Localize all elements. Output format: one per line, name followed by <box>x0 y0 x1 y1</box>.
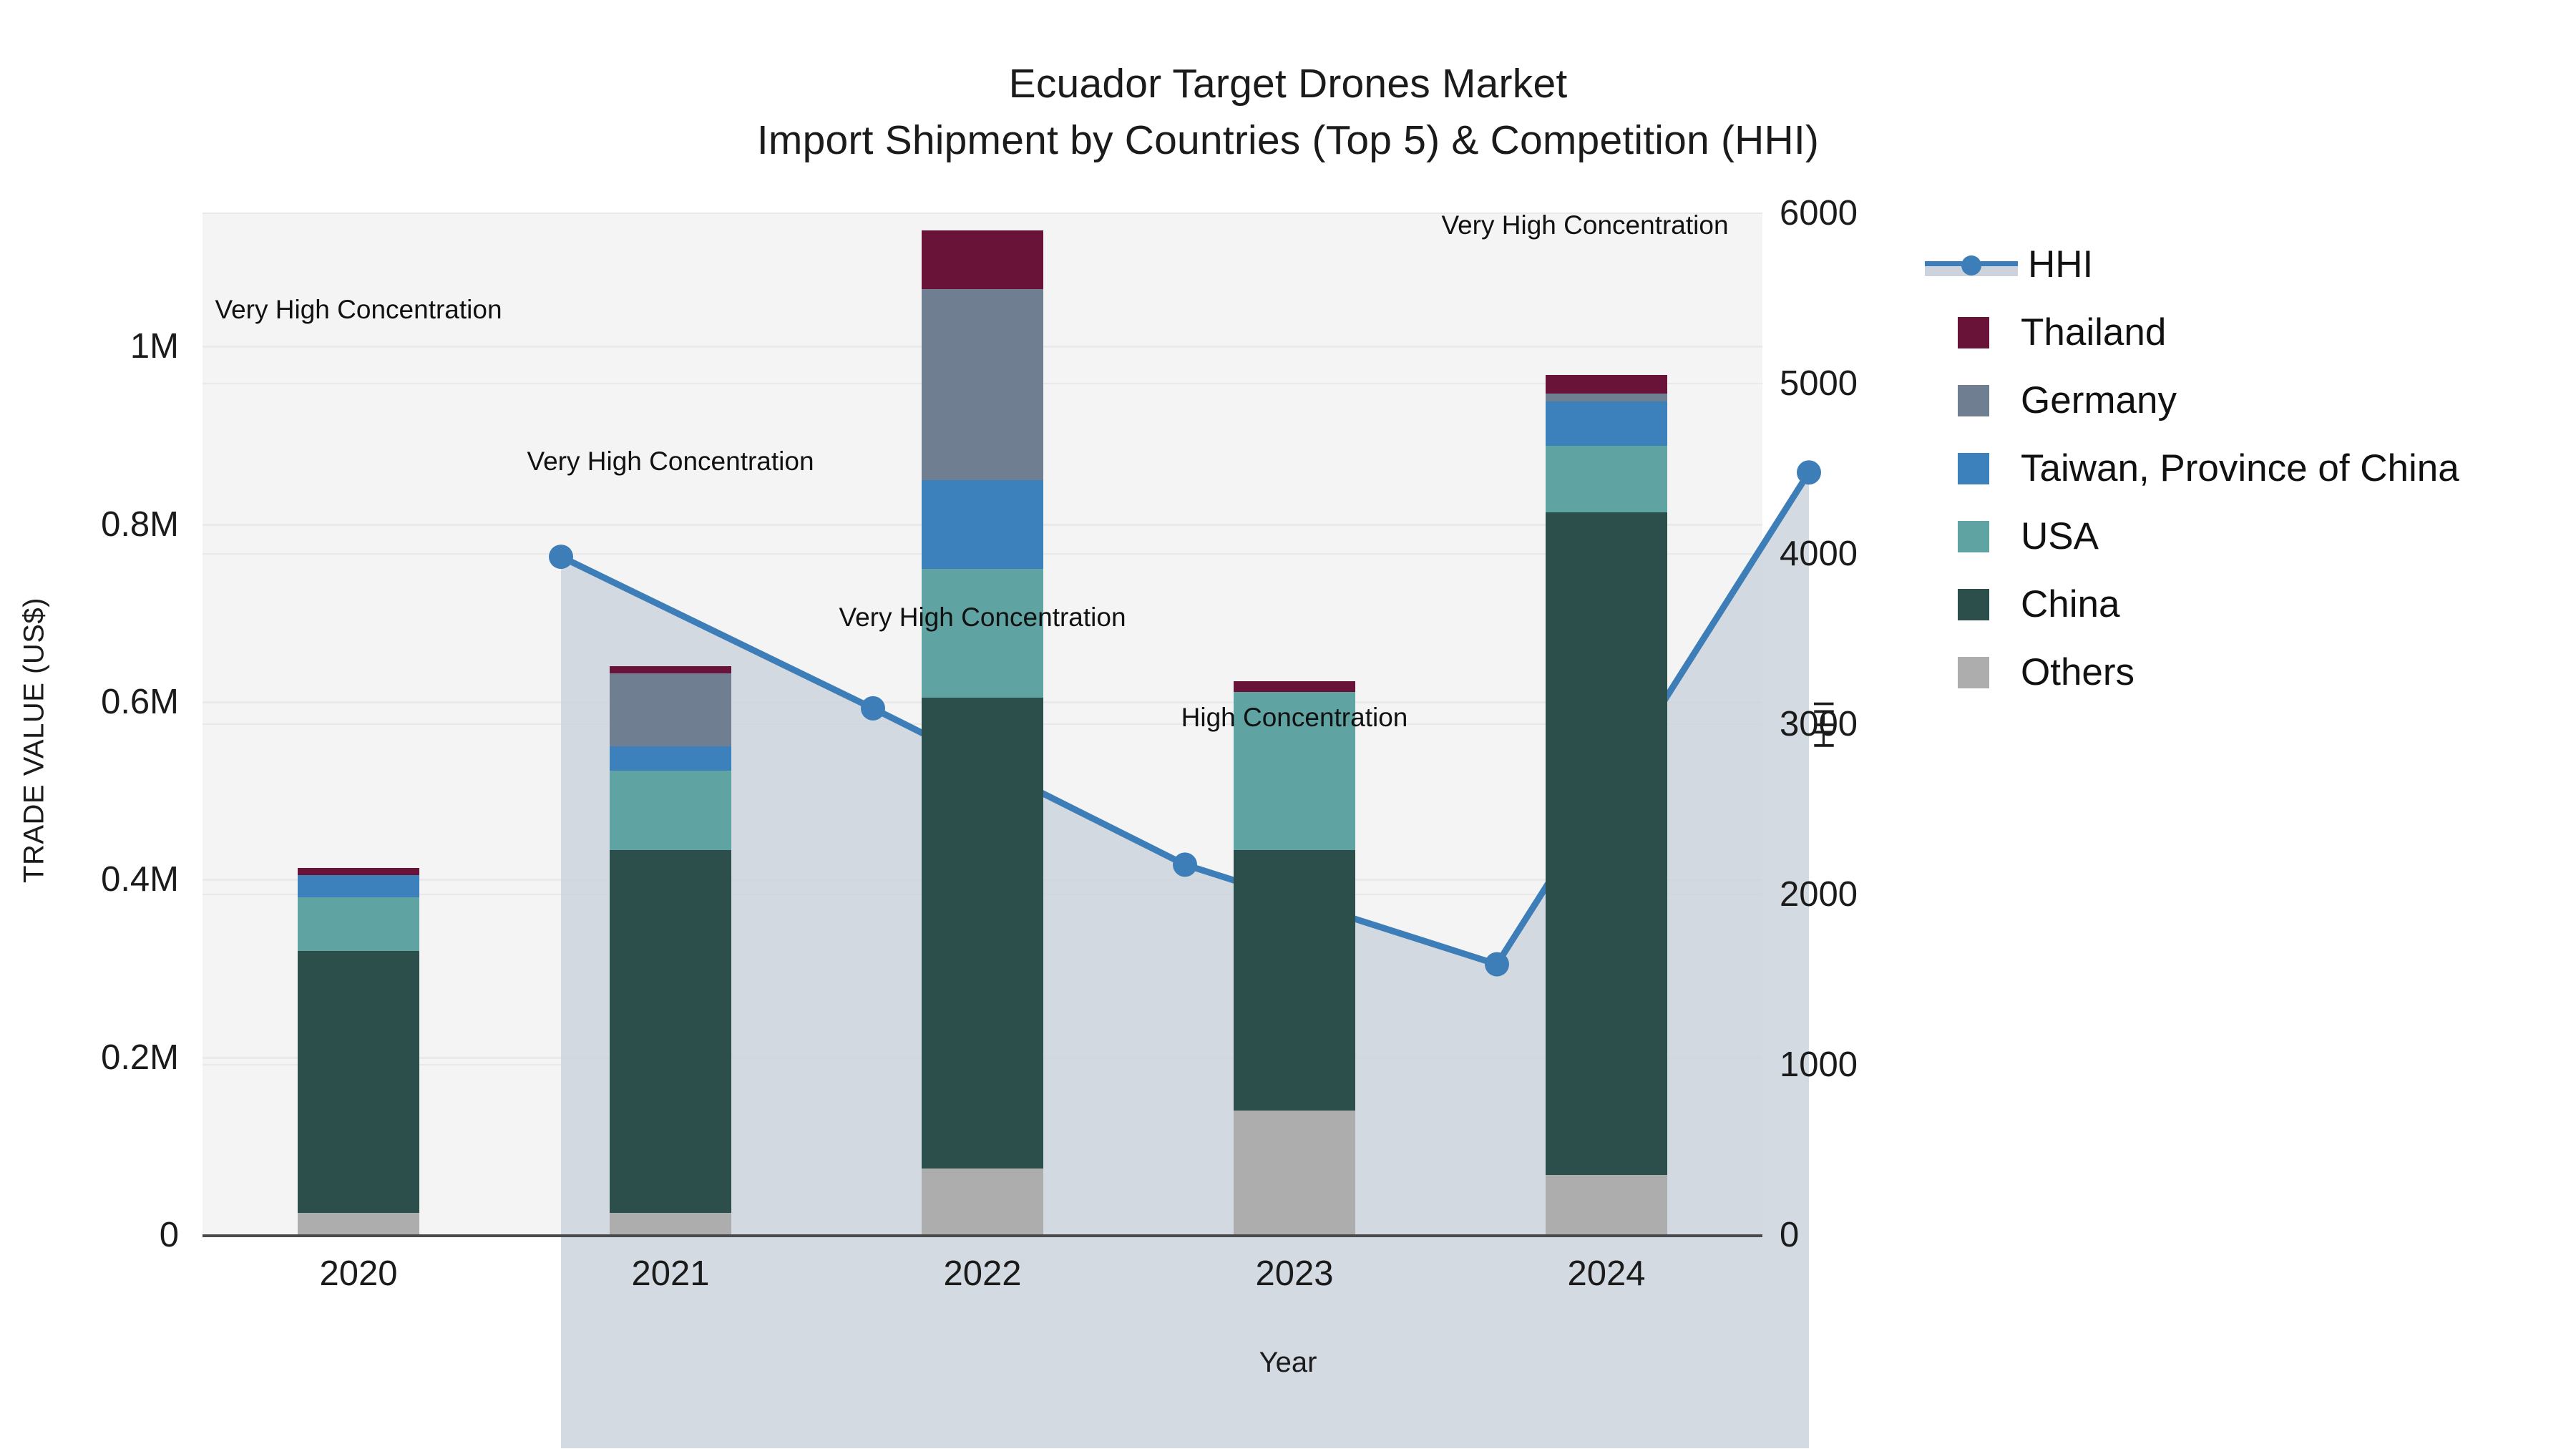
bar-segment[interactable] <box>1546 512 1667 1174</box>
bar-segment[interactable] <box>922 569 1043 698</box>
chart-subtitle: Import Shipment by Countries (Top 5) & C… <box>0 112 2576 169</box>
legend-item[interactable]: HHI <box>1925 230 2555 298</box>
bar-segment[interactable] <box>922 289 1043 480</box>
bar-segment[interactable] <box>1546 401 1667 446</box>
legend-label: HHI <box>2028 243 2093 286</box>
bar-segment[interactable] <box>922 1169 1043 1235</box>
bar-segment[interactable] <box>1546 1175 1667 1235</box>
bar-segment[interactable] <box>610 746 731 771</box>
bar-segment[interactable] <box>298 1213 419 1235</box>
bar-segment[interactable] <box>610 850 731 1213</box>
chart-title-block: Ecuador Target Drones Market Import Ship… <box>0 56 2576 168</box>
y-axis-right-tick-label: 2000 <box>1780 874 1858 914</box>
legend-swatch-icon <box>1958 317 1989 348</box>
concentration-annotation: Very High Concentration <box>1441 210 1728 240</box>
bar-segment[interactable] <box>922 230 1043 289</box>
bar-group[interactable] <box>1234 681 1355 1235</box>
y-axis-right-tick-label: 1000 <box>1780 1045 1858 1085</box>
chart-canvas: Ecuador Target Drones Market Import Ship… <box>0 0 2576 1449</box>
x-axis-tick-label: 2024 <box>1499 1254 1714 1294</box>
concentration-annotation: Very High Concentration <box>527 447 814 477</box>
legend: HHIThailandGermanyTaiwan, Province of Ch… <box>1925 230 2555 706</box>
plot-area <box>203 213 1762 1235</box>
legend-item[interactable]: USA <box>1925 502 2555 570</box>
bar-group[interactable] <box>922 230 1043 1235</box>
legend-label: Germany <box>2021 379 2177 422</box>
bar-segment[interactable] <box>610 666 731 673</box>
bar-segment[interactable] <box>610 771 731 851</box>
x-axis-title: Year <box>0 1347 2576 1379</box>
legend-label: China <box>2021 582 2119 626</box>
bar-segment[interactable] <box>298 897 419 951</box>
bar-segment[interactable] <box>1546 394 1667 401</box>
legend-label: USA <box>2021 514 2099 558</box>
bars-layer <box>203 213 1762 1235</box>
hhi-marker[interactable] <box>1797 460 1821 484</box>
bar-segment[interactable] <box>1546 375 1667 394</box>
bar-group[interactable] <box>1546 375 1667 1235</box>
concentration-annotation: Very High Concentration <box>839 602 1126 633</box>
legend-label: Thailand <box>2021 311 2166 354</box>
bar-group[interactable] <box>610 666 731 1235</box>
bar-segment[interactable] <box>298 875 419 897</box>
concentration-annotation: Very High Concentration <box>215 295 502 325</box>
y-axis-right-tick-label: 6000 <box>1780 193 1858 233</box>
bar-segment[interactable] <box>922 698 1043 1169</box>
legend-swatch-icon <box>1958 657 1989 688</box>
bar-segment[interactable] <box>1546 446 1667 512</box>
y-axis-left-title: TRADE VALUE (US$) <box>19 519 51 962</box>
bar-segment[interactable] <box>1234 1111 1355 1235</box>
legend-item[interactable]: Thailand <box>1925 298 2555 366</box>
legend-swatch-icon <box>1958 521 1989 552</box>
y-axis-right-title: HHI <box>1809 618 1841 832</box>
bar-segment[interactable] <box>610 1213 731 1235</box>
legend-swatch-icon <box>1958 385 1989 416</box>
bar-segment[interactable] <box>298 951 419 1213</box>
legend-line-marker-icon <box>1925 249 2018 280</box>
y-axis-right-tick-label: 5000 <box>1780 364 1858 404</box>
y-axis-left-tick-label: 1M <box>0 326 179 366</box>
y-axis-right-tick-label: 4000 <box>1780 534 1858 574</box>
y-axis-left-tick-label: 0 <box>0 1215 179 1255</box>
bar-segment[interactable] <box>298 868 419 875</box>
legend-label: Others <box>2021 650 2135 694</box>
legend-item[interactable]: Taiwan, Province of China <box>1925 434 2555 502</box>
legend-item[interactable]: China <box>1925 570 2555 638</box>
legend-item[interactable]: Others <box>1925 638 2555 706</box>
x-axis-tick-label: 2023 <box>1187 1254 1402 1294</box>
bar-segment[interactable] <box>922 480 1043 569</box>
x-axis-tick-label: 2020 <box>251 1254 466 1294</box>
bar-group[interactable] <box>298 868 419 1235</box>
legend-label: Taiwan, Province of China <box>2021 447 2459 490</box>
x-axis-line <box>203 1234 1762 1237</box>
y-axis-right-tick-label: 0 <box>1780 1215 1799 1255</box>
y-axis-left-tick-label: 0.2M <box>0 1038 179 1078</box>
bar-segment[interactable] <box>610 673 731 746</box>
chart-title: Ecuador Target Drones Market <box>0 56 2576 112</box>
legend-item[interactable]: Germany <box>1925 366 2555 434</box>
x-axis-tick-label: 2021 <box>563 1254 778 1294</box>
x-axis-tick-label: 2022 <box>875 1254 1090 1294</box>
legend-swatch-icon <box>1958 453 1989 484</box>
bar-segment[interactable] <box>1234 681 1355 692</box>
bar-segment[interactable] <box>1234 850 1355 1111</box>
concentration-annotation: High Concentration <box>1181 703 1408 733</box>
legend-swatch-icon <box>1958 589 1989 620</box>
